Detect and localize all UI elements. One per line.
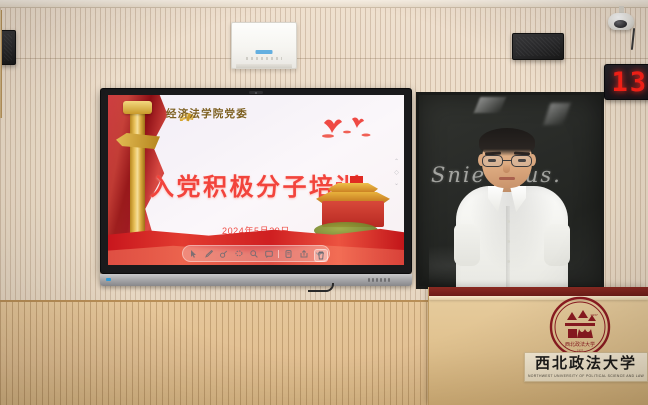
slide-side-dock[interactable]: ⌃ ◇ ⌄	[392, 159, 401, 187]
sleeve-left	[454, 224, 480, 266]
slide-header: 经济法学院党委	[166, 106, 248, 121]
shirt-button	[507, 240, 510, 243]
dock-item-down[interactable]: ⌄	[394, 181, 399, 187]
annotation-toolbar[interactable]	[182, 245, 330, 262]
podium-top-surface	[429, 287, 648, 296]
university-name-cn: 西北政法大学	[535, 356, 637, 371]
nose	[503, 164, 510, 173]
blackboard-glare	[543, 103, 570, 125]
podium-name-plate: 西北政法大学 NORTHWEST UNIVERSITY OF POLITICAL…	[524, 352, 648, 382]
mouth	[499, 177, 515, 180]
glasses-bridge	[503, 160, 511, 161]
cursor-tool-icon[interactable]	[187, 248, 200, 259]
display-cable	[308, 283, 334, 292]
brand-logo-icon	[256, 50, 273, 54]
display-bottom-bezel	[100, 274, 412, 286]
clock-digits: 13	[611, 69, 648, 96]
flying-birds-graphic	[316, 113, 382, 141]
ceiling-strip	[0, 0, 648, 8]
flag-icon	[350, 176, 363, 184]
classroom-scene: 13 Snie ogus.	[0, 0, 648, 405]
dome-camera-icon	[608, 13, 634, 30]
presenter-at-podium	[452, 128, 572, 308]
presentation-slide[interactable]: 经济法学院党委 入党积极分子培训 2024年5月29日 ⌃ ◇ ⌄	[108, 95, 404, 265]
dock-item-up[interactable]: ⌃	[394, 159, 399, 165]
display-control-buttons[interactable]	[368, 278, 390, 282]
led-clock-display: 13	[604, 64, 648, 100]
display-camera-icon	[249, 91, 263, 94]
page-tool-icon[interactable]	[282, 248, 295, 259]
podium-side-panel	[0, 10, 2, 118]
sleeve-right	[544, 224, 570, 266]
delete-tool-button[interactable]	[314, 249, 328, 262]
toolbar-separator	[278, 250, 279, 258]
lasso-tool-icon[interactable]	[232, 248, 245, 259]
lens-right	[511, 155, 532, 167]
lens-left	[482, 155, 503, 167]
shape-tool-icon[interactable]	[262, 248, 275, 259]
roof-upper	[328, 183, 378, 193]
power-indicator-icon	[106, 278, 111, 281]
university-name-en: NORTHWEST UNIVERSITY OF POLITICAL SCIENC…	[528, 374, 644, 378]
wall-speaker-left	[0, 30, 16, 65]
university-emblem-icon: 西北政法大学 1937 1937	[549, 296, 611, 358]
shirt-button	[507, 220, 510, 223]
eraser-tool-icon[interactable]	[217, 248, 230, 259]
pen-tool-icon[interactable]	[202, 248, 215, 259]
svg-text:1937: 1937	[590, 313, 598, 317]
magnifier-tool-icon[interactable]	[247, 248, 260, 259]
shirt-button	[507, 260, 510, 263]
air-conditioner-unit	[231, 22, 297, 69]
slide-header-text: 经济法学院党委	[166, 106, 248, 121]
interactive-whiteboard-display[interactable]: 经济法学院党委 入党积极分子培训 2024年5月29日 ⌃ ◇ ⌄	[100, 88, 412, 274]
blackboard-glare	[474, 97, 506, 113]
podium-ledge	[429, 296, 648, 300]
wall-speaker-right	[512, 33, 564, 60]
svg-text:西北政法大学: 西北政法大学	[565, 341, 595, 348]
vent-icon	[236, 64, 292, 68]
huabiao-cap-graphic	[123, 101, 152, 114]
podium	[428, 287, 648, 405]
dock-item-mid[interactable]: ◇	[394, 170, 399, 176]
share-tool-icon[interactable]	[297, 248, 310, 259]
